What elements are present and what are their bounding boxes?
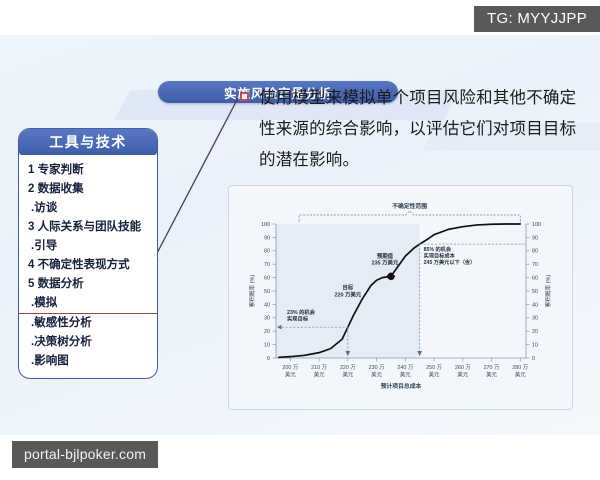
sidebar-item-7[interactable]: .模拟 <box>19 293 157 314</box>
x-tick-label-bottom: 美元 <box>486 371 497 379</box>
telegram-watermark-badge: TG: MYYJJPP <box>474 6 600 32</box>
uncertainty-range-bracket <box>299 211 520 221</box>
x-tick-label-top: 280 万 <box>512 364 528 371</box>
expected-label-value: 235 万美元 <box>372 259 399 267</box>
y-tick-label-left: 60 <box>264 276 270 282</box>
x-axis-title: 预计项目总成本 <box>381 382 422 390</box>
y-tick-label-left: 40 <box>264 302 270 308</box>
x-tick-label-top: 230 万 <box>369 364 385 371</box>
cumulative-probability-chart-card: 0010102020303040405050606070708080909010… <box>228 185 573 410</box>
y-tick-label-right: 90 <box>532 235 538 241</box>
x-tick-label-top: 220 万 <box>340 364 356 371</box>
x-tick-label-bottom: 美元 <box>371 371 382 379</box>
y-tick-label-right: 0 <box>532 356 535 362</box>
y-tick-label-right: 60 <box>532 276 538 282</box>
x-tick-label-top: 250 万 <box>426 364 442 371</box>
y-tick-label-left: 70 <box>264 262 270 268</box>
uncertainty-range-label: 不确定性范围 <box>392 202 427 210</box>
y-tick-label-right: 50 <box>532 289 538 295</box>
sidebar-item-10[interactable]: .影响图 <box>19 352 157 371</box>
y-tick-label-right: 40 <box>532 302 538 308</box>
sidebar-header: 工具与技术 <box>19 129 157 155</box>
x-tick-label-bottom: 美元 <box>400 371 411 379</box>
bullet-block: 使用模型来模拟单个项目风险和其他不确定性来源的综合影响，以评估它们对项目目标的潜… <box>240 83 590 176</box>
p23-label-line1: 23% 的机会 <box>287 308 316 316</box>
presentation-slide: 实施风险定量分析 使用模型来模拟单个项目风险和其他不确定性来源的综合影响，以评估… <box>0 35 600 435</box>
sidebar-item-4[interactable]: .引导 <box>19 236 157 255</box>
x-tick-label-bottom: 美元 <box>515 371 526 379</box>
x-tick-label-bottom: 美元 <box>342 371 353 379</box>
x-tick-label-top: 260 万 <box>455 364 471 371</box>
sidebar-item-9[interactable]: .决策树分析 <box>19 333 157 352</box>
y-tick-label-left: 100 <box>261 222 270 228</box>
cumulative-probability-chart: 0010102020303040405050606070708080909010… <box>229 186 574 411</box>
y-tick-label-right: 20 <box>532 329 538 335</box>
sidebar-item-8[interactable]: .敏感性分析 <box>19 314 157 333</box>
y-tick-label-left: 80 <box>264 249 270 255</box>
sidebar-item-3[interactable]: 3 人际关系与团队技能 <box>19 217 157 236</box>
target-label-value: 220 万美元 <box>335 291 362 299</box>
sidebar-item-2[interactable]: .访谈 <box>19 198 157 217</box>
x-tick-label-top: 200 万 <box>282 364 298 371</box>
slide-body-text: 使用模型来模拟单个项目风险和其他不确定性来源的综合影响，以评估它们对项目目标的潜… <box>259 83 590 176</box>
y-tick-label-right: 30 <box>532 316 538 322</box>
target-label-title: 目标 <box>342 284 353 292</box>
y-tick-label-left: 50 <box>264 289 270 295</box>
sidebar-list: 1 专家判断2 数据收集.访谈3 人际关系与团队技能.引导4 不确定性表现方式5… <box>19 155 157 378</box>
site-watermark-badge: portal-bjlpoker.com <box>12 441 158 468</box>
p85-label-line2: 实现目标成本 <box>424 251 456 259</box>
y-tick-label-right: 80 <box>532 249 538 255</box>
p23-label-line2: 实现目标 <box>287 315 309 323</box>
x-tick-label-bottom: 美元 <box>429 371 440 379</box>
sidebar-item-6[interactable]: 5 数据分析 <box>19 274 157 293</box>
y-axis-title-right: 累积概率 (%) <box>544 275 552 308</box>
y-tick-label-left: 30 <box>264 316 270 322</box>
sidebar-item-5[interactable]: 4 不确定性表现方式 <box>19 255 157 274</box>
sidebar-item-0[interactable]: 1 专家判断 <box>19 160 157 179</box>
x-tick-label-bottom: 美元 <box>314 371 325 379</box>
tools-and-techniques-card: 工具与技术 1 专家判断2 数据收集.访谈3 人际关系与团队技能.引导4 不确定… <box>18 128 158 379</box>
sidebar-item-1[interactable]: 2 数据收集 <box>19 179 157 198</box>
square-bullet-icon <box>240 92 249 101</box>
x-tick-label-top: 210 万 <box>311 364 327 371</box>
x-tick-label-top: 270 万 <box>484 364 500 371</box>
y-tick-label-right: 10 <box>532 343 538 349</box>
y-tick-label-left: 90 <box>264 235 270 241</box>
x-tick-label-top: 240 万 <box>397 364 413 371</box>
p85-label-line3: 245 万美元以下（含） <box>424 258 476 266</box>
y-tick-label-right: 70 <box>532 262 538 268</box>
p85-label-line1: 85% 的机会 <box>424 245 452 253</box>
y-tick-label-left: 10 <box>264 343 270 349</box>
y-tick-label-right: 100 <box>532 222 541 228</box>
x-tick-label-bottom: 美元 <box>457 371 468 379</box>
screenshot-root: TG: MYYJJPP 实施风险定量分析 使用模型来模拟单个项目风险和其他不确定… <box>0 0 600 480</box>
y-tick-label-left: 0 <box>267 356 270 362</box>
expected-label-title: 预期值 <box>377 252 394 260</box>
y-tick-label-left: 20 <box>264 329 270 335</box>
x-tick-label-bottom: 美元 <box>285 371 296 379</box>
y-axis-title-left: 累积概率 (%) <box>248 275 256 308</box>
